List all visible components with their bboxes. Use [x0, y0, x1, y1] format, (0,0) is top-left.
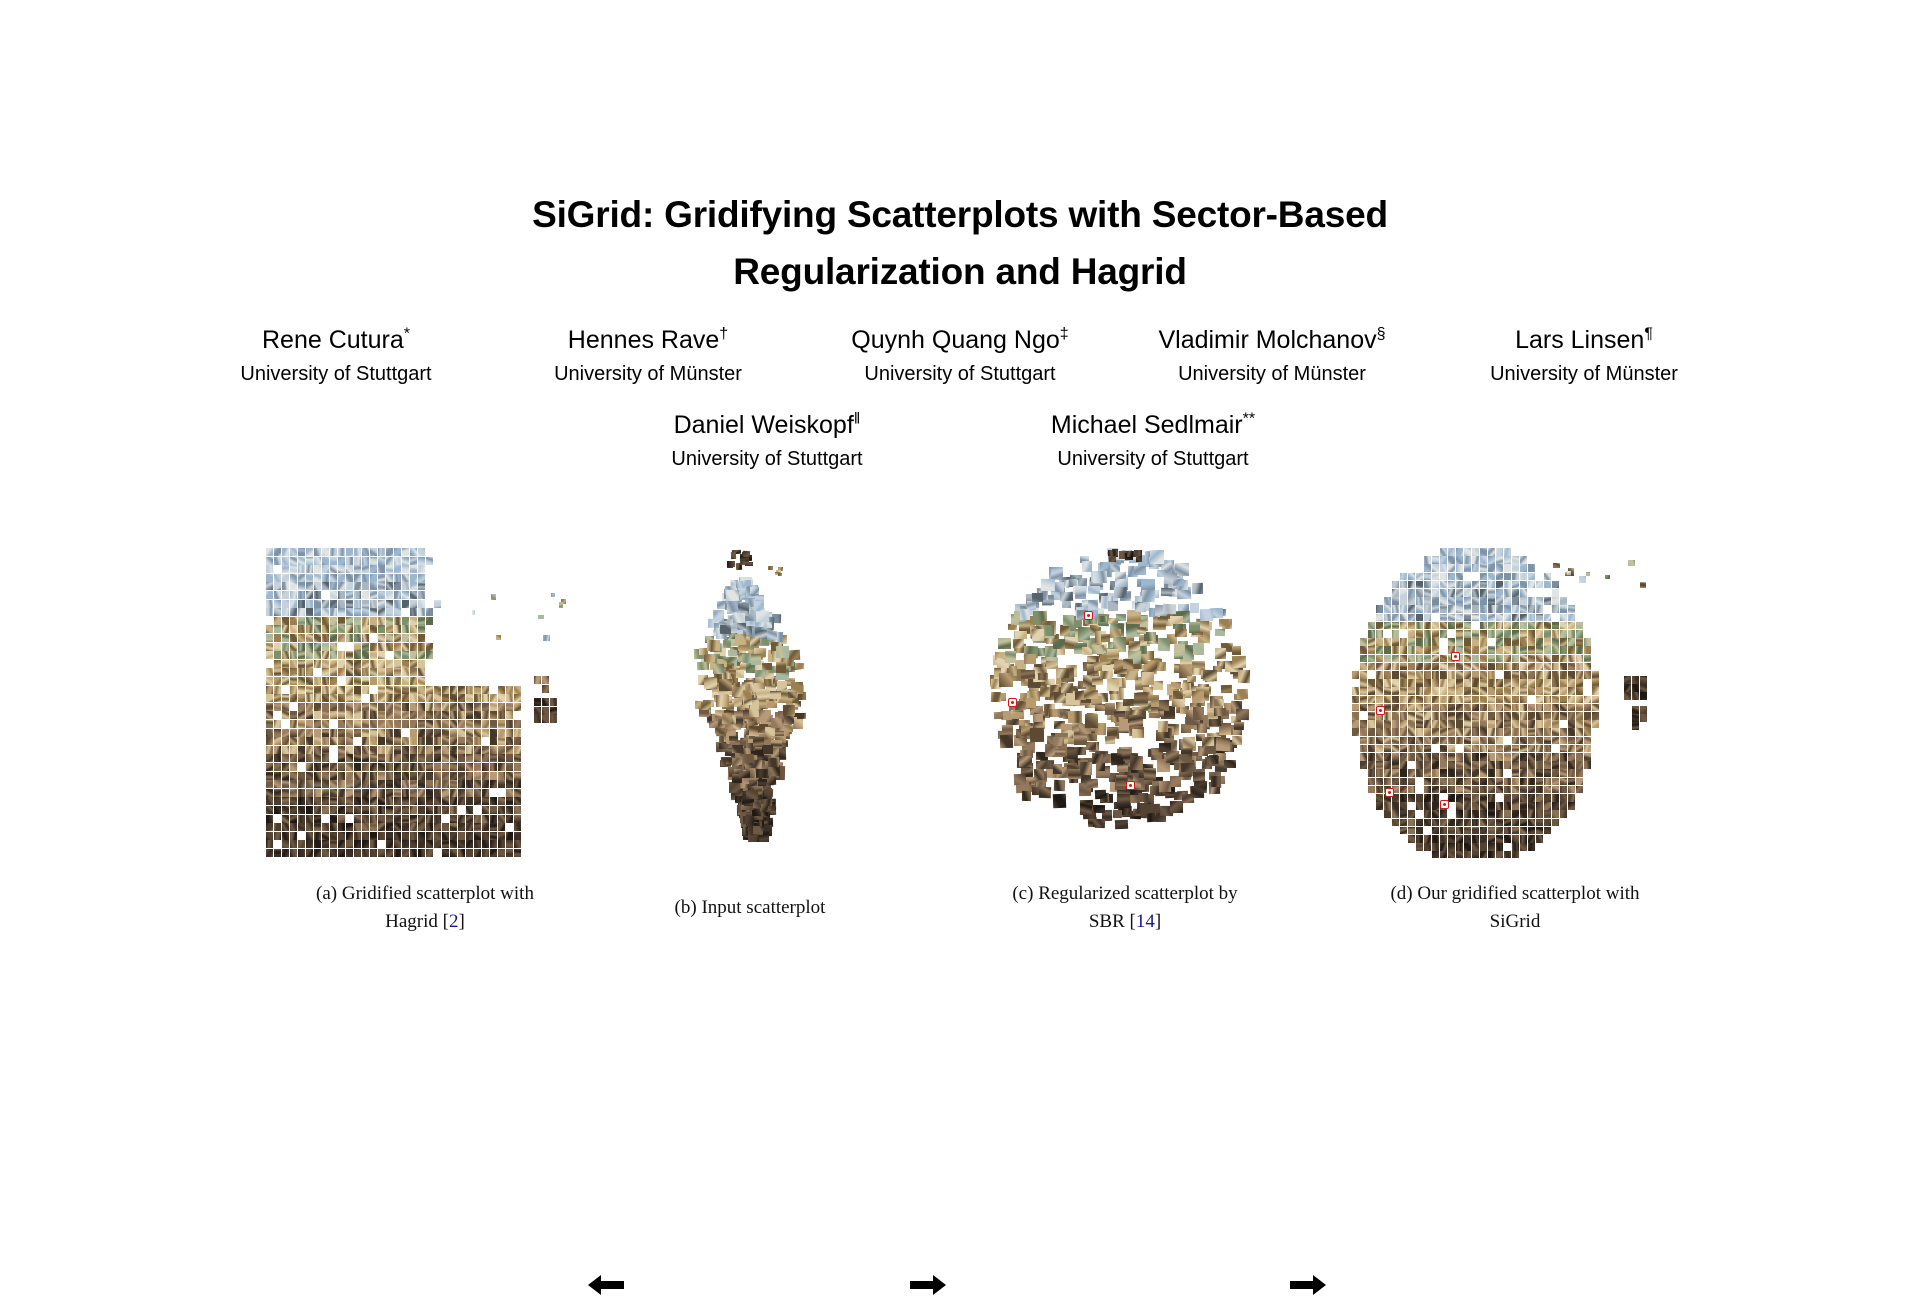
thumbnail-tile: [466, 772, 473, 780]
thumbnail-tile: [1440, 556, 1447, 564]
thumbnail-tile: [490, 720, 497, 728]
thumbnail-tile: [362, 849, 369, 857]
thumbnail-tile: [1448, 679, 1455, 687]
thumbnail-tile: [274, 660, 281, 668]
thumbnail-tile: [701, 702, 712, 711]
thumbnail-tile: [1408, 605, 1415, 613]
thumbnail-tile: [362, 617, 369, 625]
thumbnail-tile: [322, 737, 329, 745]
thumbnail-tile: [1544, 704, 1551, 712]
thumbnail-tile: [290, 806, 297, 814]
thumbnail-tile: [410, 720, 417, 728]
arrow-right-icon: [908, 1272, 948, 1298]
scatterplot-gridified-sigrid[interactable]: [1352, 548, 1664, 858]
thumbnail-tile: [1488, 687, 1495, 695]
author-row-primary: Rene Cutura* University of Stuttgart Hen…: [0, 325, 1920, 389]
author-name-text: Michael Sedlmair: [1051, 411, 1243, 439]
thumbnail-tile: [1560, 646, 1567, 654]
thumbnail-tile: [426, 711, 433, 719]
caption-a-citation[interactable]: 2: [449, 911, 459, 932]
thumbnail-tile: [290, 815, 297, 823]
thumbnail-tile: [370, 780, 377, 788]
thumbnail-tile: [1424, 556, 1431, 564]
thumbnail-tile: [763, 745, 773, 754]
thumbnail-tile: [1424, 720, 1431, 728]
thumbnail-tile: [1456, 671, 1463, 679]
thumbnail-tile: [506, 840, 513, 848]
thumbnail-tile: [386, 711, 393, 719]
thumbnail-tile: [474, 772, 481, 780]
thumbnail-tile: [1368, 696, 1375, 704]
thumbnail-tile: [346, 625, 353, 633]
thumbnail-tile: [1480, 704, 1487, 712]
thumbnail-tile: [410, 625, 417, 633]
thumbnail-tile: [1472, 810, 1479, 818]
thumbnail-tile: [274, 600, 281, 608]
thumbnail-tile: [402, 565, 409, 573]
teaser-figure: [0, 548, 1920, 868]
thumbnail-tile: [767, 776, 776, 786]
thumbnail-tile: [1432, 696, 1439, 704]
thumbnail-tile: [1504, 573, 1511, 581]
thumbnail-tile: [1504, 630, 1511, 638]
thumbnail-tile: [1135, 550, 1142, 557]
thumbnail-tile: [1440, 737, 1447, 745]
thumbnail-tile: [290, 763, 297, 771]
thumbnail-tile: [1464, 704, 1471, 712]
thumbnail-tile: [1400, 720, 1407, 728]
thumbnail-tile: [1440, 728, 1447, 736]
thumbnail-tile: [442, 737, 449, 745]
thumbnail-tile: [362, 591, 369, 599]
thumbnail-tile: [1528, 581, 1535, 589]
thumbnail-tile: [1464, 605, 1471, 613]
thumbnail-tile: [1392, 630, 1399, 638]
thumbnail-tile: [1117, 764, 1128, 772]
thumbnail-tile: [1060, 592, 1074, 602]
thumbnail-tile: [402, 677, 409, 685]
thumbnail-tile: [1424, 655, 1431, 663]
thumbnail-tile: [1480, 679, 1487, 687]
thumbnail-tile: [1504, 638, 1511, 646]
thumbnail-tile: [274, 780, 281, 788]
thumbnail-tile: [1472, 753, 1479, 761]
thumbnail-tile: [458, 797, 465, 805]
thumbnail-tile: [1400, 737, 1407, 745]
author-affiliation: University of Münster: [1428, 360, 1740, 389]
thumbnail-tile: [434, 737, 441, 745]
thumbnail-tile: [1512, 638, 1519, 646]
thumbnail-tile: [362, 686, 369, 694]
thumbnail-tile: [426, 763, 433, 771]
thumbnail-tile: [1504, 753, 1511, 761]
thumbnail-tile: [722, 673, 731, 679]
thumbnail-tile: [370, 711, 377, 719]
thumbnail-tile: [1400, 810, 1407, 818]
thumbnail-tile: [1392, 614, 1399, 622]
thumbnail-tile: [394, 780, 401, 788]
thumbnail-tile: [1640, 706, 1647, 714]
thumbnail-tile: [1576, 638, 1583, 646]
thumbnail-tile: [1504, 597, 1511, 605]
thumbnail-tile: [1488, 679, 1495, 687]
thumbnail-tile: [1432, 802, 1439, 810]
thumbnail-tile: [314, 634, 321, 642]
thumbnail-tile: [1408, 827, 1415, 835]
thumbnail-tile: [1488, 778, 1495, 786]
thumbnail-tile: [1528, 753, 1535, 761]
thumbnail-tile: [482, 797, 489, 805]
thumbnail-tile: [1464, 819, 1471, 827]
thumbnail-tile: [1480, 835, 1487, 843]
thumbnail-tile: [1464, 753, 1471, 761]
thumbnail-tile: [1424, 687, 1431, 695]
thumbnail-tile: [1368, 769, 1375, 777]
thumbnail-tile: [282, 832, 289, 840]
thumbnail-tile: [1376, 737, 1383, 745]
thumbnail-tile: [1456, 614, 1463, 622]
thumbnail-tile: [1568, 696, 1575, 704]
thumbnail-tile: [1360, 761, 1367, 769]
thumbnail-tile: [1536, 761, 1543, 769]
thumbnail-tile: [1392, 745, 1399, 753]
thumbnail-tile: [1440, 704, 1447, 712]
thumbnail-tile: [474, 694, 481, 702]
thumbnail-tile: [266, 823, 273, 831]
thumbnail-tile: [1568, 687, 1575, 695]
thumbnail-tile: [458, 780, 465, 788]
thumbnail-tile: [298, 565, 305, 573]
thumbnail-tile: [330, 772, 337, 780]
thumbnail-tile: [426, 823, 433, 831]
thumbnail-tile: [1584, 761, 1591, 769]
thumbnail-tile: [314, 643, 321, 651]
caption-c-citation[interactable]: 14: [1136, 911, 1155, 932]
thumbnail-tile: [378, 763, 385, 771]
thumbnail-tile: [1376, 671, 1383, 679]
thumbnail-tile: [1528, 827, 1535, 835]
thumbnail-tile: [734, 633, 746, 644]
thumbnail-tile: [290, 840, 297, 848]
thumbnail-tile: [1384, 687, 1391, 695]
thumbnail-tile: [767, 630, 777, 639]
thumbnail-tile: [1576, 679, 1583, 687]
highlight-marker: [1376, 706, 1385, 715]
thumbnail-tile: [1376, 745, 1383, 753]
thumbnail-tile: [426, 720, 433, 728]
thumbnail-tile: [1592, 704, 1599, 712]
thumbnail-tile: [1352, 696, 1359, 704]
thumbnail-tile: [1480, 556, 1487, 564]
thumbnail-tile: [1552, 786, 1559, 794]
thumbnail-tile: [378, 643, 385, 651]
thumbnail-tile: [354, 565, 361, 573]
caption-a-ref-label: Hagrid [: [385, 911, 449, 932]
thumbnail-tile: [1456, 556, 1463, 564]
thumbnail-tile: [330, 591, 337, 599]
thumbnail-tile: [1424, 737, 1431, 745]
thumbnail-tile: [1496, 835, 1503, 843]
thumbnail-tile: [322, 600, 329, 608]
thumbnail-tile: [1416, 835, 1423, 843]
thumbnail-tile: [466, 823, 473, 831]
thumbnail-tile: [410, 737, 417, 745]
thumbnail-tile: [1520, 802, 1527, 810]
thumbnail-tile: [1440, 778, 1447, 786]
thumbnail-tile: [1055, 749, 1065, 757]
thumbnail-tile: [543, 635, 550, 640]
thumbnail-tile: [370, 772, 377, 780]
thumbnail-tile: [370, 643, 377, 651]
thumbnail-tile: [314, 651, 321, 659]
thumbnail-tile: [1368, 622, 1375, 630]
thumbnail-tile: [1512, 663, 1519, 671]
thumbnail-tile: [386, 806, 393, 814]
author-name: Quynh Quang Ngo‡: [804, 325, 1116, 356]
thumbnail-tile: [472, 610, 475, 615]
thumbnail-tile: [274, 651, 281, 659]
thumbnail-tile: [770, 691, 781, 698]
thumbnail-tile: [1576, 671, 1583, 679]
thumbnail-tile: [1480, 597, 1487, 605]
thumbnail-tile: [402, 703, 409, 711]
thumbnail-tile: [1141, 672, 1153, 685]
thumbnail-tile: [1544, 794, 1551, 802]
thumbnail-tile: [1520, 597, 1527, 605]
thumbnail-tile: [378, 849, 385, 857]
thumbnail-tile: [1512, 745, 1519, 753]
thumbnail-tile: [274, 634, 281, 642]
thumbnail-tile: [1432, 679, 1439, 687]
thumbnail-tile: [354, 651, 361, 659]
thumbnail-tile: [322, 651, 329, 659]
author-affiliation: University of Stuttgart: [574, 445, 960, 474]
thumbnail-tile: [418, 720, 425, 728]
thumbnail-tile: [1376, 605, 1383, 613]
thumbnail-tile: [506, 815, 513, 823]
thumbnail-tile: [1000, 735, 1014, 749]
thumbnail-tile: [514, 840, 521, 848]
thumbnail-tile: [1464, 655, 1471, 663]
scatterplot-gridified-hagrid[interactable]: [266, 548, 578, 858]
thumbnail-tile: [1448, 548, 1455, 556]
thumbnail-tile: [1105, 736, 1115, 744]
thumbnail-tile: [1424, 819, 1431, 827]
thumbnail-tile: [776, 646, 789, 658]
thumbnail-tile: [274, 849, 281, 857]
thumbnail-tile: [322, 660, 329, 668]
thumbnail-tile: [458, 737, 465, 745]
thumbnail-tile: [1536, 605, 1543, 613]
thumbnail-tile: [402, 849, 409, 857]
thumbnail-tile: [490, 823, 497, 831]
thumbnail-tile: [1408, 696, 1415, 704]
thumbnail-tile: [298, 737, 305, 745]
thumbnail-tile: [402, 832, 409, 840]
thumbnail-tile: [346, 694, 353, 702]
thumbnail-tile: [1640, 684, 1647, 692]
thumbnail-tile: [1400, 679, 1407, 687]
thumbnail-tile: [1424, 802, 1431, 810]
thumbnail-tile: [762, 663, 772, 670]
highlight-marker: [1126, 781, 1135, 790]
thumbnail-tile: [378, 651, 385, 659]
thumbnail-tile: [1512, 573, 1519, 581]
thumbnail-tile: [1560, 704, 1567, 712]
thumbnail-tile: [282, 849, 289, 857]
thumbnail-tile: [1496, 646, 1503, 654]
thumbnail-tile: [1150, 550, 1164, 564]
thumbnail-tile: [1392, 655, 1399, 663]
thumbnail-tile: [378, 720, 385, 728]
thumbnail-tile: [1568, 745, 1575, 753]
thumbnail-tile: [290, 625, 297, 633]
thumbnail-tile: [1472, 851, 1479, 858]
thumbnail-tile: [1496, 720, 1503, 728]
thumbnail-tile: [1408, 646, 1415, 654]
thumbnail-tile: [458, 703, 465, 711]
thumbnail-tile: [1520, 630, 1527, 638]
thumbnail-tile: [1536, 638, 1543, 646]
thumbnail-tile: [394, 686, 401, 694]
thumbnail-tile: [1512, 696, 1519, 704]
thumbnail-tile: [1424, 778, 1431, 786]
thumbnail-tile: [418, 729, 425, 737]
thumbnail-tile: [346, 668, 353, 676]
thumbnail-tile: [1392, 687, 1399, 695]
thumbnail-tile: [1568, 778, 1575, 786]
thumbnail-tile: [1536, 819, 1543, 827]
thumbnail-tile: [1464, 589, 1471, 597]
thumbnail-tile: [764, 788, 774, 796]
thumbnail-tile: [783, 725, 794, 732]
thumbnail-tile: [314, 789, 321, 797]
thumbnail-tile: [1584, 655, 1591, 663]
thumbnail-tile: [370, 651, 377, 659]
thumbnail-tile: [1110, 752, 1123, 765]
scatterplot-input[interactable]: [680, 548, 816, 848]
scatterplot-regularized-sbr[interactable]: [988, 548, 1254, 856]
thumbnail-tile: [306, 815, 313, 823]
thumbnail-tile: [1416, 704, 1423, 712]
thumbnail-tile: [410, 686, 417, 694]
thumbnail-tile: [298, 557, 305, 565]
thumbnail-tile: [354, 686, 361, 694]
thumbnail-tile: [1512, 753, 1519, 761]
thumbnail-tile: [474, 815, 481, 823]
thumbnail-tile: [1408, 753, 1415, 761]
thumbnail-tile: [266, 686, 273, 694]
thumbnail-tile: [1480, 827, 1487, 835]
thumbnail-tile: [274, 823, 281, 831]
thumbnail-tile: [1448, 851, 1455, 858]
thumbnail-tile: [1536, 778, 1543, 786]
thumbnail-tile: [1440, 745, 1447, 753]
thumbnail-tile: [266, 668, 273, 676]
thumbnail-tile: [346, 849, 353, 857]
thumbnail-tile: [386, 780, 393, 788]
thumbnail-tile: [434, 789, 441, 797]
thumbnail-tile: [370, 737, 377, 745]
thumbnail-tile: [1496, 745, 1503, 753]
thumbnail-tile: [1033, 714, 1043, 723]
thumbnail-tile: [298, 591, 305, 599]
thumbnail-tile: [298, 754, 305, 762]
thumbnail-tile: [1544, 581, 1551, 589]
thumbnail-tile: [1512, 704, 1519, 712]
thumbnail-tile: [1432, 786, 1439, 794]
thumbnail-tile: [1408, 589, 1415, 597]
thumbnail-tile: [1472, 556, 1479, 564]
thumbnail-tile: [338, 746, 345, 754]
thumbnail-tile: [550, 707, 557, 715]
thumbnail-tile: [410, 591, 417, 599]
figure-captions: (a) Gridified scatterplot with Hagrid [2…: [0, 880, 1920, 960]
thumbnail-tile: [442, 746, 449, 754]
thumbnail-tile: [466, 815, 473, 823]
thumbnail-tile: [1512, 581, 1519, 589]
thumbnail-tile: [290, 677, 297, 685]
caption-d-line2: SiGrid: [1330, 908, 1700, 936]
thumbnail-tile: [1440, 835, 1447, 843]
thumbnail-tile: [1520, 671, 1527, 679]
thumbnail-tile: [1080, 761, 1092, 774]
thumbnail-tile: [282, 746, 289, 754]
thumbnail-tile: [314, 565, 321, 573]
thumbnail-tile: [1472, 696, 1479, 704]
thumbnail-tile: [442, 840, 449, 848]
thumbnail-tile: [1496, 704, 1503, 712]
thumbnail-tile: [1576, 704, 1583, 712]
thumbnail-tile: [1392, 581, 1399, 589]
thumbnail-tile: [1456, 597, 1463, 605]
thumbnail-tile: [394, 797, 401, 805]
thumbnail-tile: [1416, 794, 1423, 802]
thumbnail-tile: [1448, 663, 1455, 671]
thumbnail-tile: [338, 832, 345, 840]
thumbnail-tile: [266, 797, 273, 805]
thumbnail-tile: [1568, 646, 1575, 654]
thumbnail-tile: [1448, 696, 1455, 704]
thumbnail-tile: [1408, 745, 1415, 753]
thumbnail-tile: [1368, 630, 1375, 638]
thumbnail-tile: [418, 625, 425, 633]
figure-panel-c: [988, 548, 1254, 856]
thumbnail-tile: [1544, 646, 1551, 654]
thumbnail-tile: [1552, 646, 1559, 654]
thumbnail-tile: [434, 763, 441, 771]
thumbnail-tile: [394, 668, 401, 676]
thumbnail-tile: [1528, 802, 1535, 810]
thumbnail-tile: [1480, 548, 1487, 556]
thumbnail-tile: [1480, 696, 1487, 704]
thumbnail-tile: [330, 789, 337, 797]
thumbnail-tile: [1488, 646, 1495, 654]
thumbnail-tile: [1384, 745, 1391, 753]
thumbnail-tile: [394, 849, 401, 857]
thumbnail-tile: [1496, 564, 1503, 572]
thumbnail-tile: [1528, 704, 1535, 712]
thumbnail-tile: [991, 692, 1001, 702]
thumbnail-tile: [266, 737, 273, 745]
thumbnail-tile: [1480, 630, 1487, 638]
thumbnail-tile: [394, 634, 401, 642]
caption-c-line1: (c) Regularized scatterplot by: [960, 880, 1290, 908]
thumbnail-tile: [266, 815, 273, 823]
thumbnail-tile: [298, 677, 305, 685]
thumbnail-tile: [514, 789, 521, 797]
thumbnail-tile: [266, 772, 273, 780]
